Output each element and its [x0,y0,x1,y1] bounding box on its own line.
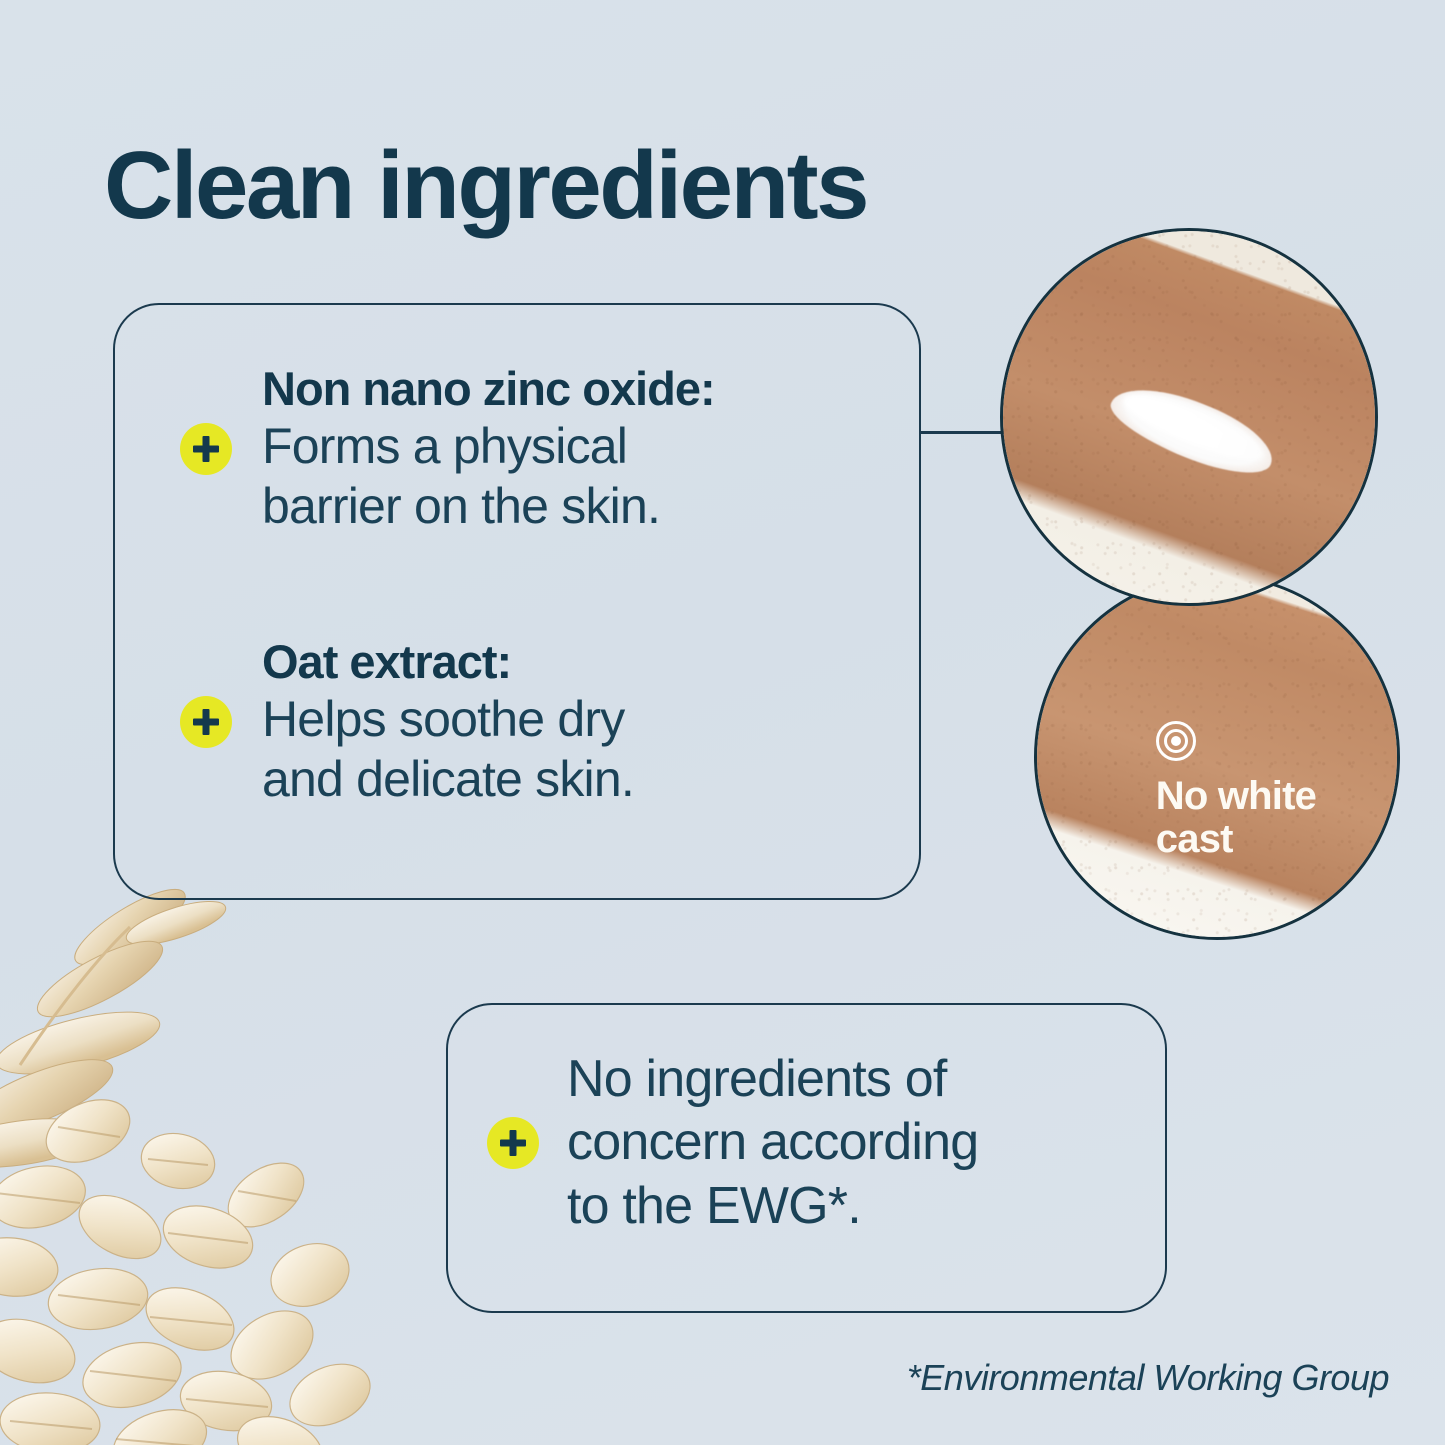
page-title: Clean ingredients [104,136,867,237]
target-icon [1156,721,1196,761]
oats-decoration [0,875,400,1445]
bullet-body: Forms a physical barrier on the skin. [262,416,715,536]
clean-ingredients-infographic: Clean ingredients Non nano zinc oxide: F… [0,0,1445,1445]
photo-cream-swipe [1000,228,1378,606]
ewg-body: No ingredients of concern according to t… [567,1048,978,1238]
no-white-cast-label: No white cast [1156,775,1316,861]
plus-icon [180,423,232,475]
bullet-heading: Non nano zinc oxide: [262,363,715,416]
bullet-oat-extract: Oat extract: Helps soothe dry and delica… [180,636,634,809]
bullet-zinc-oxide: Non nano zinc oxide: Forms a physical ba… [180,363,715,536]
skin-surface [1034,574,1400,940]
footnote: *Environmental Working Group [907,1357,1389,1399]
plus-icon [487,1117,539,1169]
bullet-text-group: Oat extract: Helps soothe dry and delica… [262,636,634,809]
plus-icon [180,696,232,748]
connector-line [920,431,1004,434]
bullet-body: Helps soothe dry and delicate skin. [262,689,634,809]
bullet-ewg: No ingredients of concern according to t… [487,1048,978,1238]
skin-texture [1034,574,1400,940]
bullet-heading: Oat extract: [262,636,634,689]
bullet-text-group: Non nano zinc oxide: Forms a physical ba… [262,363,715,536]
photo-no-white-cast: No white cast [1034,574,1400,940]
